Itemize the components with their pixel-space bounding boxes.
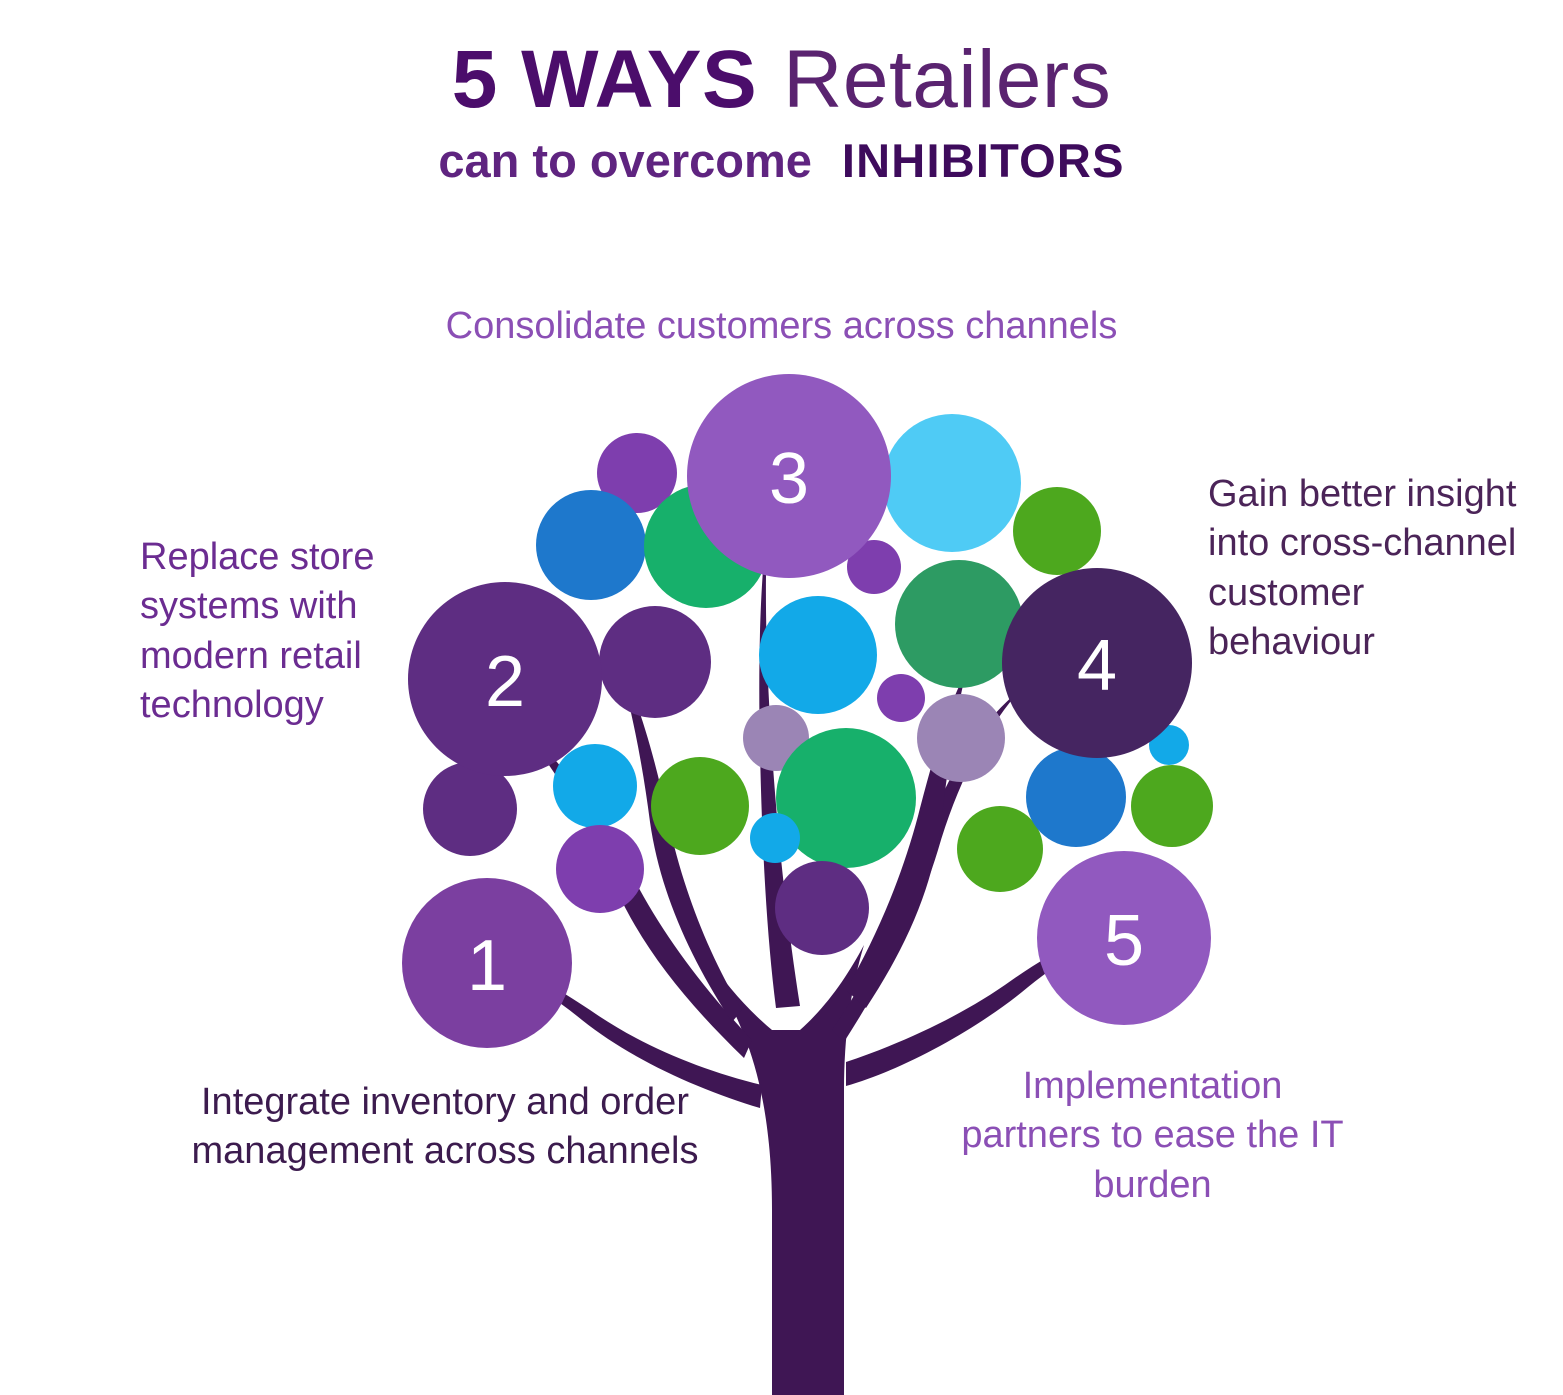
foliage-circle (877, 674, 925, 722)
node-number-1: 1 (467, 926, 507, 1006)
node-number-5: 5 (1104, 901, 1144, 981)
node-number-3: 3 (769, 439, 809, 519)
foliage-circle (1026, 747, 1126, 847)
foliage-circle (1131, 765, 1213, 847)
foliage-circle (883, 414, 1021, 552)
foliage-circle (651, 757, 749, 855)
foliage-circle (917, 694, 1005, 782)
tree-node-2[interactable]: 2 (408, 582, 602, 776)
foliage-circle (556, 825, 644, 913)
foliage-circle (759, 596, 877, 714)
tree-node-3[interactable]: 3 (687, 374, 891, 578)
tree-node-4[interactable]: 4 (1002, 568, 1192, 758)
trunk-base (772, 1200, 844, 1395)
foliage-circle (1013, 487, 1101, 575)
node-number-4: 4 (1077, 626, 1117, 706)
foliage-circle (750, 813, 800, 863)
foliage-circle (536, 490, 646, 600)
foliage-circle (957, 806, 1043, 892)
tree-illustration: 12345 (0, 0, 1563, 1395)
foliage-circle (775, 861, 869, 955)
tree-node-1[interactable]: 1 (402, 878, 572, 1048)
infographic-canvas: 5 WAYSRetailers can to overcomeINHIBITOR… (0, 0, 1563, 1395)
foliage-circle (553, 744, 637, 828)
node-number-2: 2 (485, 642, 525, 722)
foliage-circle (599, 606, 711, 718)
tree-node-5[interactable]: 5 (1037, 851, 1211, 1025)
foliage-circle (423, 762, 517, 856)
